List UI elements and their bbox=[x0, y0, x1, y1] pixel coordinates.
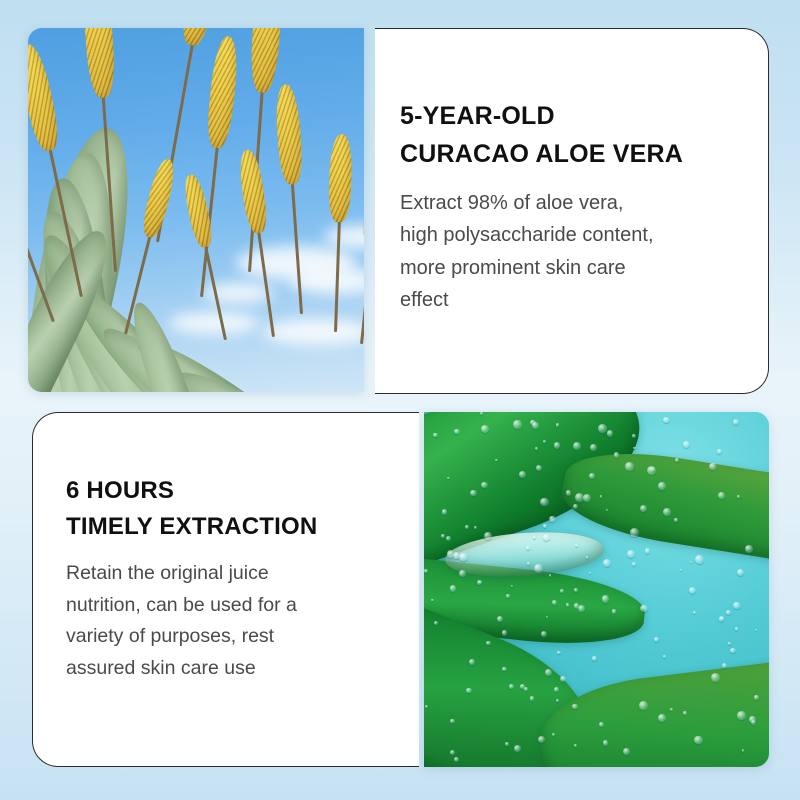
water-droplet bbox=[469, 659, 475, 665]
water-droplet bbox=[625, 462, 634, 471]
feature-one-card: 01. 5-YEAR-OLD CURACAO ALOE VERA Extract… bbox=[375, 28, 769, 394]
water-droplet bbox=[431, 599, 434, 602]
water-droplet bbox=[694, 736, 703, 745]
water-droplet bbox=[477, 580, 482, 585]
water-droplet bbox=[549, 516, 555, 522]
water-droplet bbox=[590, 444, 597, 451]
water-droplet bbox=[683, 441, 690, 448]
feature-two-heading-line1: 6 HOURS bbox=[66, 473, 411, 509]
water-droplet bbox=[536, 465, 542, 471]
water-droplet bbox=[502, 667, 506, 671]
water-droplet bbox=[575, 544, 578, 547]
water-droplet bbox=[574, 744, 577, 747]
water-droplet bbox=[566, 603, 569, 606]
water-droplet bbox=[543, 524, 547, 528]
water-droplet bbox=[600, 495, 603, 498]
water-droplet bbox=[535, 447, 538, 450]
water-droplet bbox=[530, 696, 535, 701]
water-droplet bbox=[554, 442, 560, 448]
water-droplet bbox=[574, 603, 579, 608]
water-droplet bbox=[640, 605, 647, 612]
water-droplet bbox=[623, 748, 630, 755]
water-droplet bbox=[447, 550, 454, 557]
water-droplet bbox=[632, 562, 636, 566]
water-droplet bbox=[722, 663, 727, 668]
water-droplet bbox=[663, 508, 671, 516]
water-droplet bbox=[556, 423, 560, 427]
water-droplet bbox=[749, 716, 756, 723]
water-droplet bbox=[592, 656, 597, 661]
feature-two-heading-line2: TIMELY EXTRACTION bbox=[66, 509, 411, 545]
water-droplet bbox=[495, 459, 498, 462]
water-droplet bbox=[639, 701, 648, 710]
water-droplet bbox=[658, 714, 666, 722]
water-droplet bbox=[459, 553, 467, 561]
water-droplet bbox=[728, 642, 731, 645]
water-droplet bbox=[526, 546, 530, 550]
feature-two-body-line-2: nutrition, can be used for a bbox=[66, 590, 411, 622]
aloe-field-photo bbox=[28, 28, 364, 392]
water-droplet bbox=[557, 651, 561, 655]
water-droplet bbox=[647, 466, 656, 475]
water-droplet bbox=[552, 600, 557, 605]
water-droplet bbox=[532, 422, 539, 429]
water-droplet bbox=[755, 629, 757, 631]
water-droplet bbox=[589, 572, 591, 574]
water-droplet bbox=[502, 630, 507, 635]
water-droplet bbox=[586, 556, 589, 559]
water-droplet bbox=[737, 711, 746, 720]
water-droplet bbox=[556, 699, 559, 702]
water-droplet bbox=[540, 498, 548, 506]
feature-one-body-line-3: more prominent skin care bbox=[400, 252, 745, 284]
infographic-stage: 01. 5-YEAR-OLD CURACAO ALOE VERA Extract… bbox=[0, 0, 800, 800]
water-droplet bbox=[754, 695, 758, 699]
aloe-leaf-macro-photo bbox=[424, 412, 769, 767]
water-droplet bbox=[450, 719, 455, 724]
water-droplet bbox=[497, 616, 503, 622]
water-droplet bbox=[459, 570, 466, 577]
water-droplet bbox=[695, 555, 704, 564]
water-droplet bbox=[524, 687, 528, 691]
water-droplet bbox=[602, 595, 609, 602]
water-droplet bbox=[663, 417, 670, 424]
water-droplet bbox=[578, 605, 585, 612]
water-droplet bbox=[484, 532, 492, 540]
water-droplet bbox=[742, 749, 744, 751]
feature-one-body-line-2: high polysaccharide content, bbox=[400, 219, 745, 251]
water-droplet bbox=[583, 494, 591, 502]
water-droplet bbox=[689, 587, 696, 594]
water-droplet bbox=[481, 482, 488, 489]
water-droplet bbox=[566, 490, 571, 495]
water-droplet bbox=[480, 412, 483, 415]
flower-head bbox=[328, 134, 353, 223]
feature-one-body-line-4: effect bbox=[400, 284, 745, 316]
water-droplet bbox=[719, 616, 724, 621]
water-droplet bbox=[506, 594, 510, 598]
water-droplet bbox=[454, 757, 459, 762]
water-droplet bbox=[614, 452, 619, 457]
feature-two-body: Retain the original juice nutrition, can… bbox=[66, 558, 411, 684]
water-droplet bbox=[735, 627, 738, 630]
water-droplet bbox=[574, 588, 578, 592]
water-droplet bbox=[509, 684, 514, 689]
water-droplet bbox=[534, 564, 543, 573]
feature-two-body-line-4: assured skin care use bbox=[66, 653, 411, 685]
water-droplet bbox=[640, 505, 647, 512]
water-droplet bbox=[599, 722, 604, 727]
feature-one-text-block: 5-YEAR-OLD CURACAO ALOE VERA Extract 98%… bbox=[400, 97, 745, 317]
water-droplet bbox=[466, 688, 471, 693]
water-droplet bbox=[474, 526, 477, 529]
feature-one-heading-line1: 5-YEAR-OLD bbox=[400, 97, 745, 135]
feature-two-body-line-3: variety of purposes, rest bbox=[66, 621, 411, 653]
water-droplet bbox=[549, 574, 551, 576]
water-droplet bbox=[527, 562, 530, 565]
feature-one-body-line-1: Extract 98% of aloe vera, bbox=[400, 187, 745, 219]
water-droplet bbox=[519, 471, 526, 478]
water-droplet bbox=[450, 585, 457, 592]
water-droplet bbox=[511, 585, 513, 587]
water-droplet bbox=[717, 449, 722, 454]
water-droplet bbox=[745, 545, 753, 553]
water-droplet bbox=[627, 550, 635, 558]
water-droplet bbox=[470, 490, 477, 497]
water-droplet bbox=[541, 631, 547, 637]
water-droplets-group bbox=[424, 412, 769, 767]
water-droplet bbox=[654, 637, 659, 642]
water-droplet bbox=[447, 477, 450, 480]
water-droplet bbox=[606, 509, 608, 511]
water-droplet bbox=[543, 440, 546, 443]
water-droplet bbox=[486, 641, 491, 646]
water-droplet bbox=[442, 509, 447, 514]
water-droplet bbox=[674, 518, 678, 522]
water-droplet bbox=[658, 482, 665, 489]
water-droplet bbox=[425, 705, 428, 708]
water-droplet bbox=[514, 745, 521, 752]
water-droplet bbox=[573, 504, 578, 509]
water-droplet bbox=[663, 655, 666, 658]
water-droplet bbox=[730, 648, 735, 653]
feature-two-text-block: 6 HOURS TIMELY EXTRACTION Retain the ori… bbox=[66, 473, 411, 684]
water-droplet bbox=[454, 429, 459, 434]
water-droplet bbox=[545, 669, 552, 676]
water-droplet bbox=[632, 434, 636, 438]
feature-two-body-line-1: Retain the original juice bbox=[66, 558, 411, 590]
water-droplet bbox=[560, 676, 566, 682]
water-droplet bbox=[505, 742, 509, 746]
water-droplet bbox=[737, 569, 744, 576]
water-droplet bbox=[573, 442, 581, 450]
water-droplet bbox=[543, 534, 550, 541]
water-droplet bbox=[546, 616, 548, 618]
water-droplet bbox=[711, 673, 720, 682]
water-droplet bbox=[630, 528, 639, 537]
water-droplet bbox=[670, 708, 673, 711]
water-droplet bbox=[683, 711, 687, 715]
water-droplet bbox=[554, 687, 559, 692]
water-droplet bbox=[733, 602, 741, 610]
water-droplet bbox=[441, 534, 445, 538]
water-droplet bbox=[633, 447, 635, 449]
water-droplet bbox=[675, 458, 679, 462]
water-droplet bbox=[552, 733, 555, 736]
water-droplet bbox=[424, 569, 428, 573]
water-droplet bbox=[737, 495, 740, 498]
water-droplet bbox=[607, 430, 613, 436]
water-droplet bbox=[513, 420, 521, 428]
water-droplet bbox=[560, 589, 564, 593]
water-droplet bbox=[733, 419, 739, 425]
water-droplet bbox=[538, 736, 545, 743]
water-droplet bbox=[434, 621, 438, 625]
water-droplet bbox=[572, 704, 577, 709]
water-droplet bbox=[465, 525, 469, 529]
water-droplet bbox=[446, 536, 451, 541]
water-droplet bbox=[598, 424, 607, 433]
water-droplet bbox=[693, 611, 696, 614]
water-droplet bbox=[645, 548, 651, 554]
water-droplet bbox=[690, 561, 692, 563]
water-droplet bbox=[612, 609, 616, 613]
water-droplet bbox=[726, 610, 731, 615]
water-droplet bbox=[533, 536, 535, 538]
water-droplet bbox=[709, 463, 717, 471]
water-droplet bbox=[481, 425, 489, 433]
water-droplet bbox=[603, 559, 611, 567]
feature-one-body: Extract 98% of aloe vera, high polysacch… bbox=[400, 187, 745, 317]
water-droplet bbox=[680, 569, 682, 571]
water-droplet bbox=[603, 740, 609, 746]
water-droplet bbox=[718, 492, 725, 499]
water-droplet bbox=[433, 433, 437, 437]
water-droplet bbox=[589, 473, 595, 479]
feature-one-heading-line2: CURACAO ALOE VERA bbox=[400, 135, 745, 173]
water-droplet bbox=[450, 750, 455, 755]
feature-two-card: 02. 6 HOURS TIMELY EXTRACTION Retain the… bbox=[32, 412, 419, 767]
